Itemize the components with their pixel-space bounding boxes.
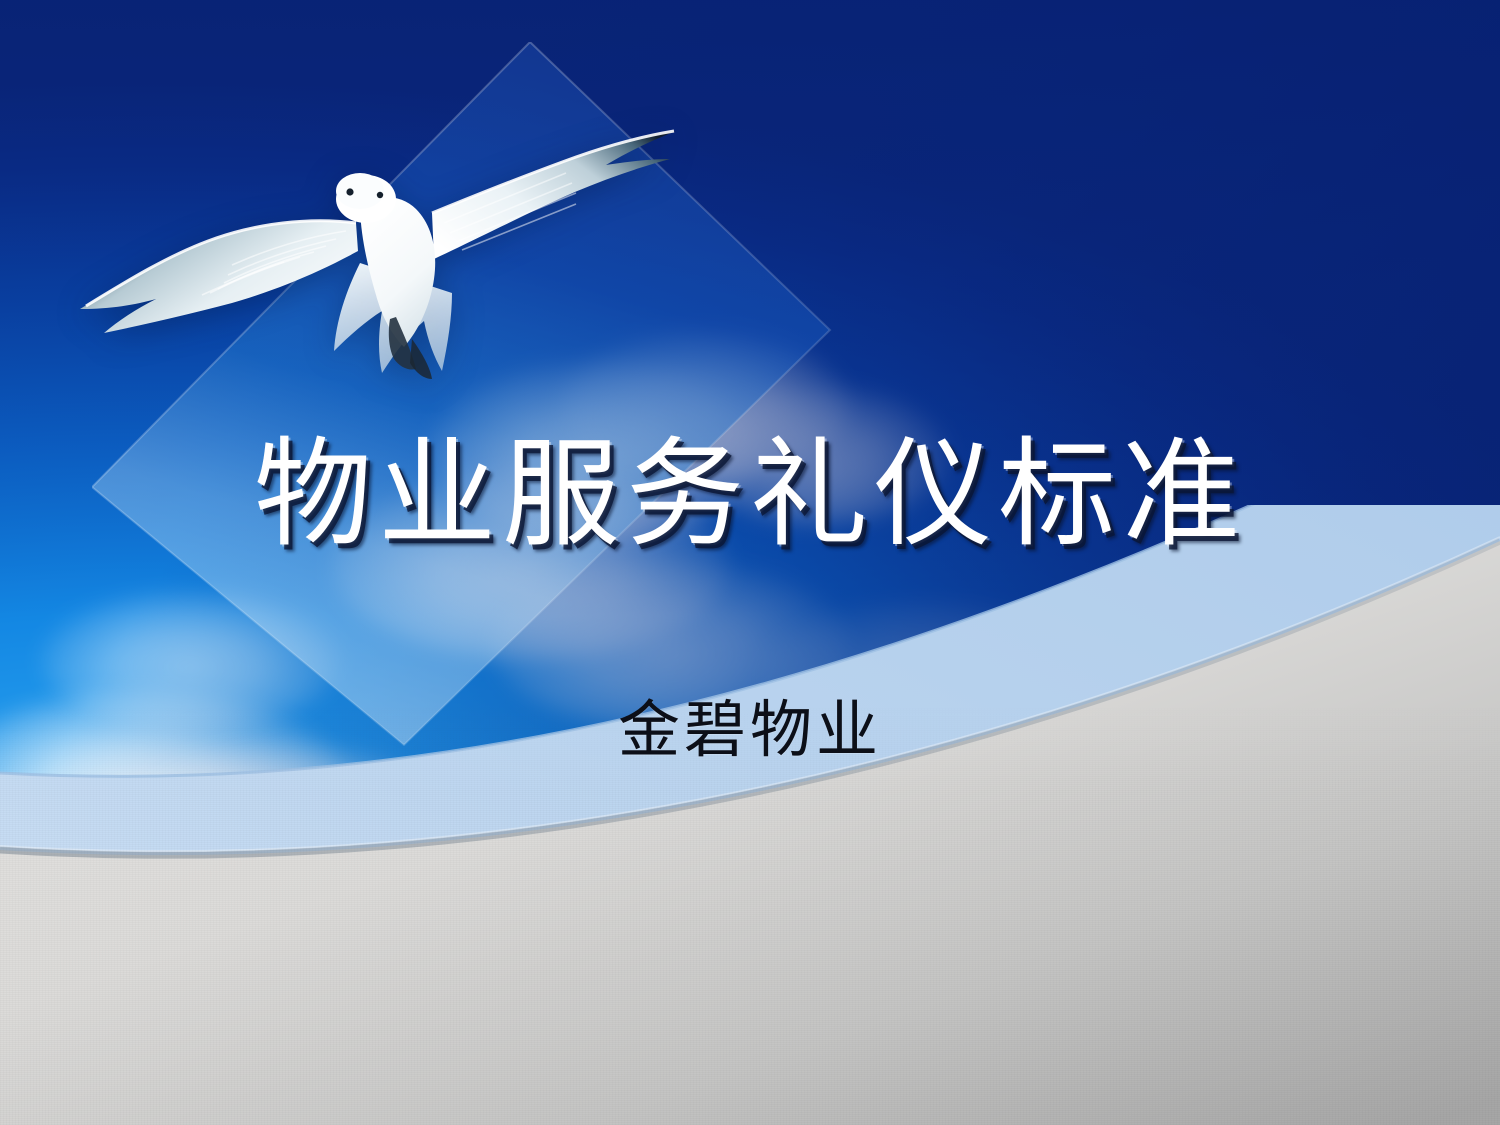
subtitle-container: 金碧物业 bbox=[0, 697, 1500, 765]
slide-subtitle: 金碧物业 bbox=[618, 697, 882, 765]
slide-title: 物业服务礼仪标准 bbox=[254, 432, 1246, 559]
swoosh-bands bbox=[0, 505, 1500, 1125]
seagull-photo bbox=[60, 95, 680, 425]
title-container: 物业服务礼仪标准 bbox=[0, 432, 1500, 559]
title-slide: 物业服务礼仪标准 金碧物业 bbox=[0, 0, 1500, 1125]
